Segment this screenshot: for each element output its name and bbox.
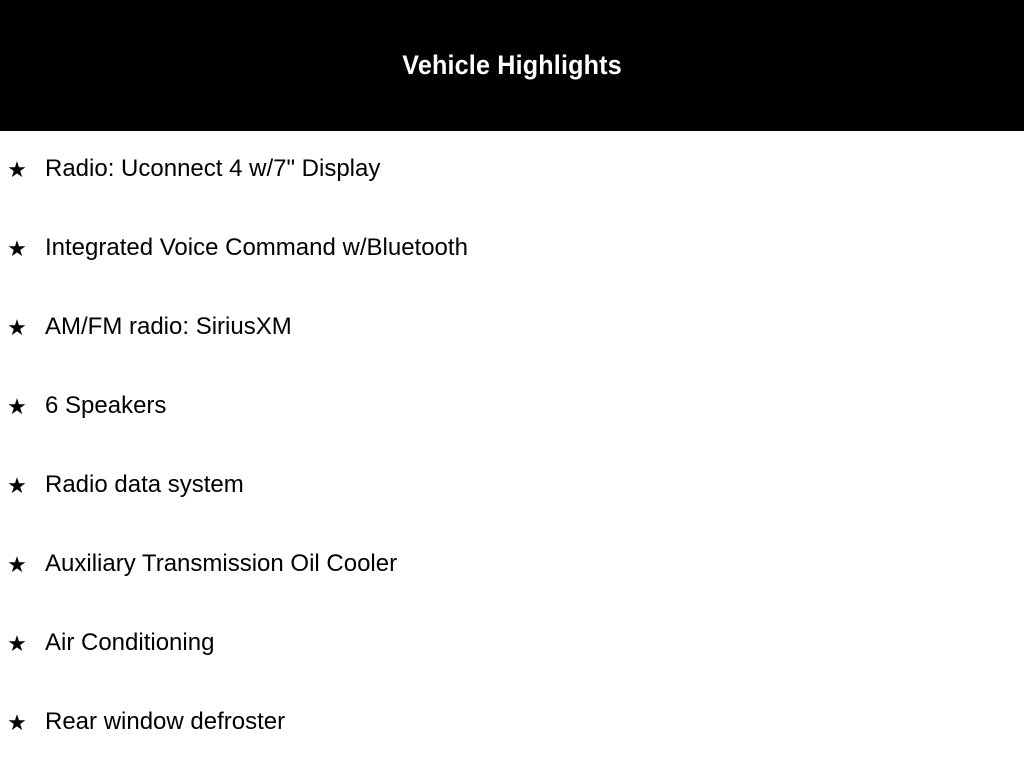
list-item: ★ 6 Speakers [0,368,1024,447]
list-item-label: AM/FM radio: SiriusXM [34,289,292,339]
star-icon: ★ [0,210,34,260]
list-item: ★ Rear window defroster [0,684,1024,763]
list-item-label: Air Conditioning [34,605,214,655]
list-item: ★ Integrated Voice Command w/Bluetooth [0,210,1024,289]
list-item: ★ AM/FM radio: SiriusXM [0,289,1024,368]
header-bar: Vehicle Highlights [0,0,1024,131]
list-item: ★ Air Conditioning [0,605,1024,684]
star-icon: ★ [0,684,34,734]
list-item: ★ Radio data system [0,447,1024,526]
star-icon: ★ [0,368,34,418]
list-item-label: Rear window defroster [34,684,285,734]
list-item: ★ Auxiliary Transmission Oil Cooler [0,526,1024,605]
list-item-label: Radio data system [34,447,244,497]
list-item-label: Integrated Voice Command w/Bluetooth [34,210,468,260]
star-icon: ★ [0,131,34,181]
list-item-label: Auxiliary Transmission Oil Cooler [34,526,397,576]
vehicle-highlights-page: Vehicle Highlights ★ Radio: Uconnect 4 w… [0,0,1024,768]
vehicle-highlights-list: ★ Radio: Uconnect 4 w/7" Display ★ Integ… [0,131,1024,763]
page-title: Vehicle Highlights [402,52,622,79]
star-icon: ★ [0,447,34,497]
list-item-label: Radio: Uconnect 4 w/7" Display [34,131,380,181]
list-item-label: 6 Speakers [34,368,166,418]
star-icon: ★ [0,605,34,655]
star-icon: ★ [0,526,34,576]
star-icon: ★ [0,289,34,339]
list-item: ★ Radio: Uconnect 4 w/7" Display [0,131,1024,210]
